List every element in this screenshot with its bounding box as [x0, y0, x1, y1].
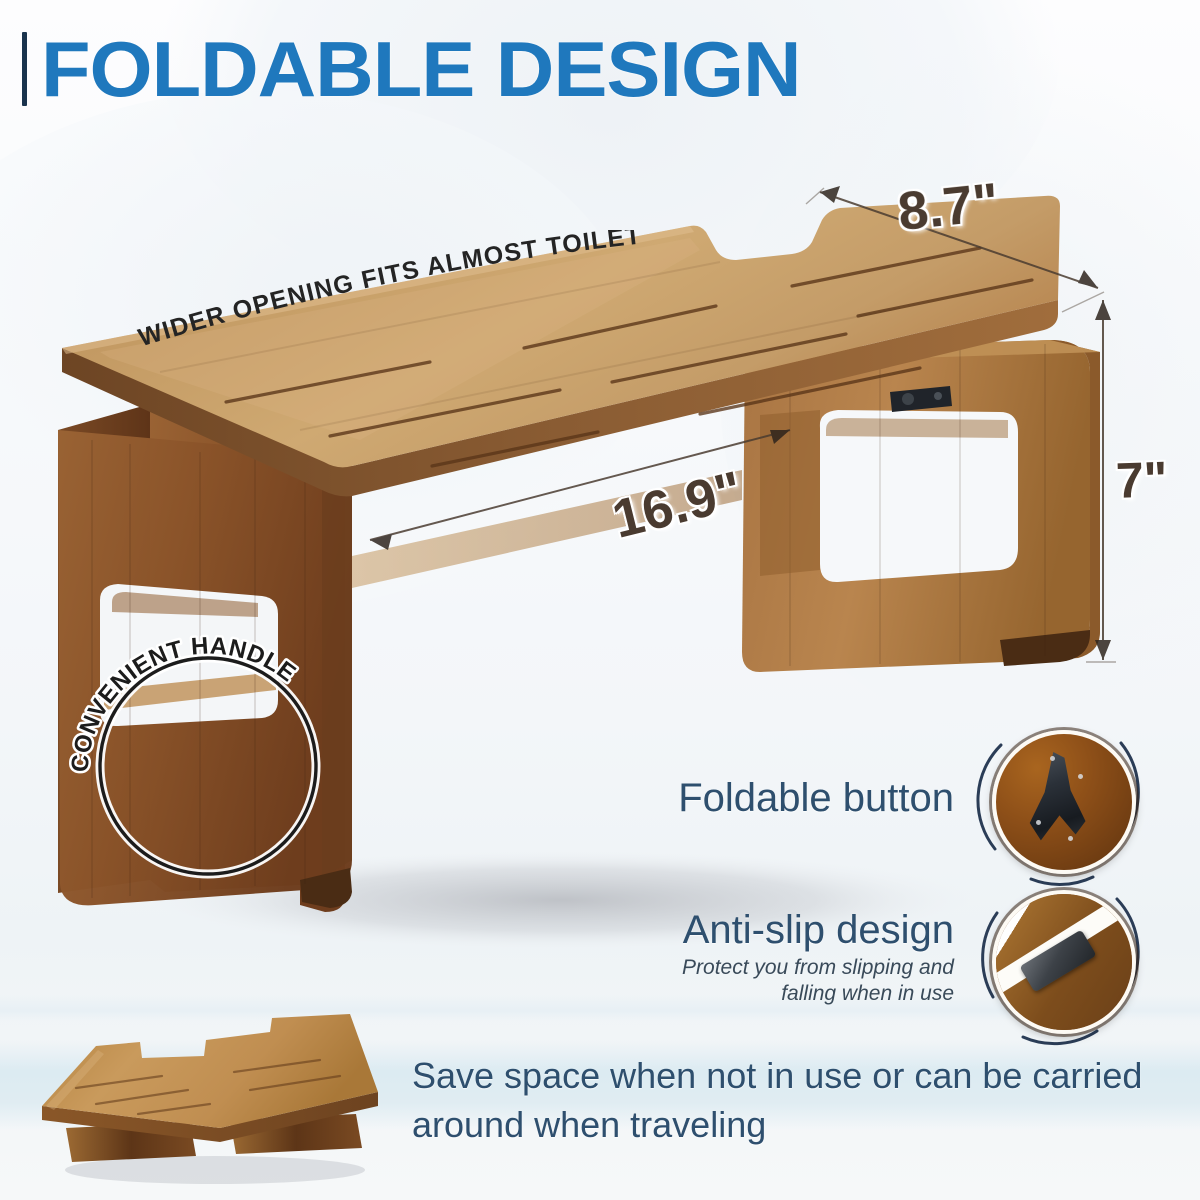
feature-2-subtitle: Protect you from slipping andfalling whe… — [470, 955, 954, 1008]
hinge-highlight-dot — [1050, 756, 1055, 761]
feature-1-inset — [980, 718, 1140, 878]
dimension-label-length: 16.9" — [606, 459, 748, 551]
product-photo-folded — [20, 1010, 400, 1190]
dimension-label-width: 8.7" — [895, 171, 1002, 243]
background-blob-right — [720, 40, 1200, 740]
dimension-label-height: 7" — [1115, 450, 1169, 510]
hinge-hardware — [890, 386, 952, 412]
hinge-highlight-dot — [1068, 836, 1073, 841]
title-accent-bar — [22, 32, 27, 106]
folded-seat-surface — [42, 1014, 378, 1128]
hinge-bracket-icon — [992, 730, 1136, 874]
hinge-highlight-dot — [1078, 774, 1083, 779]
feature-2-inset — [980, 878, 1140, 1038]
handle-cutout-right — [820, 410, 1018, 582]
curved-caption-text: WIDER OPENING FITS ALMOST TOILET — [135, 230, 643, 352]
feature-1-title: Foldable button — [500, 777, 954, 819]
hinge-highlight-dot — [1036, 820, 1041, 825]
curved-caption: WIDER OPENING FITS ALMOST TOILET — [120, 230, 760, 390]
page-title: FOLDABLE DESIGN — [22, 30, 771, 108]
feature-2-copy: Anti-slip design Protect you from slippi… — [470, 909, 980, 1008]
footer-caption: Save space when not in use or can be car… — [412, 1052, 1200, 1149]
title-text: FOLDABLE DESIGN — [41, 30, 801, 108]
right-leg-panel — [742, 340, 1100, 672]
feature-anti-slip-design: Anti-slip design Protect you from slippi… — [470, 878, 1140, 1038]
feature-1-copy: Foldable button — [500, 777, 980, 819]
hinge-metal-shape — [1026, 752, 1088, 848]
convenient-handle-badge: CONVENIENT HANDLE — [58, 616, 358, 886]
infographic-canvas: FOLDABLE DESIGN — [0, 0, 1200, 1200]
folded-leg-right — [230, 1114, 362, 1154]
rubber-foot-pad-icon — [992, 890, 1136, 1034]
feature-foldable-button: Foldable button — [500, 718, 1140, 878]
feature-2-title: Anti-slip design — [470, 909, 954, 951]
folded-leg-left — [66, 1122, 196, 1162]
